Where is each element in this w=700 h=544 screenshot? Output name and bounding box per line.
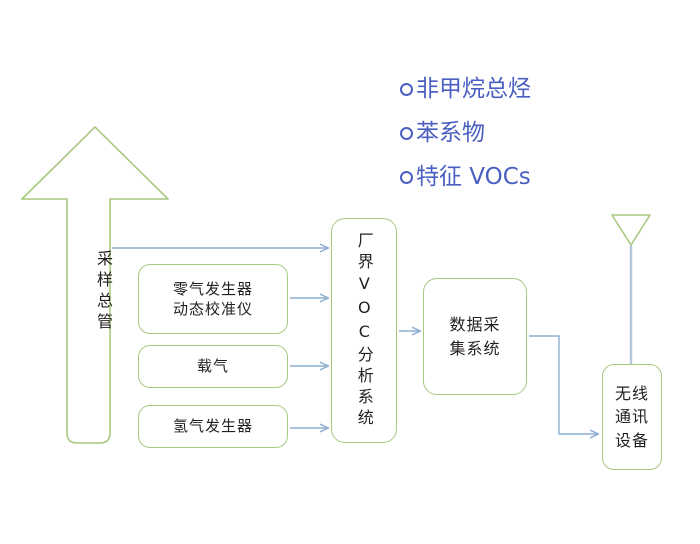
legend: 非甲烷总烃 苯系物 特征 VOCs — [400, 76, 690, 208]
node-label: 厂界VOC分析系统 — [355, 232, 373, 430]
node-label: 数据采 集系统 — [449, 313, 500, 361]
node-hydrogen-generator: 氢气发生器 — [138, 405, 288, 448]
arrow-dacq-to-wireless — [529, 336, 598, 434]
legend-item-vocs: 特征 VOCs — [400, 164, 690, 190]
node-label-line1: 数据采 — [449, 313, 500, 337]
node-label-line1: 无线 — [615, 382, 649, 405]
legend-item-label: 苯系物 — [416, 120, 485, 146]
node-wireless-device: 无线 通讯 设备 — [602, 364, 662, 470]
node-label: 无线 通讯 设备 — [615, 382, 649, 452]
node-label-line3: 设备 — [615, 429, 649, 452]
node-zero-gas-generator: 零气发生器 动态校准仪 — [138, 264, 288, 334]
antenna-icon — [612, 215, 650, 364]
manifold-label: 采样总管 — [67, 250, 112, 334]
node-carrier-gas: 载气 — [138, 345, 288, 388]
node-data-acquisition: 数据采 集系统 — [423, 278, 527, 395]
legend-item-nmhc: 非甲烷总烃 — [400, 76, 690, 102]
hollow-circle-icon — [400, 127, 413, 140]
node-label-line2: 通讯 — [615, 405, 649, 428]
node-label: 氢气发生器 — [173, 416, 253, 436]
hollow-circle-icon — [400, 83, 413, 96]
diagram-canvas: 采样总管 非甲烷总烃 苯系物 特征 VOCs 零气发生器 动态校准仪 载气 氢气… — [0, 0, 700, 544]
node-voc-analyzer: 厂界VOC分析系统 — [331, 218, 397, 443]
legend-item-label: 非甲烷总烃 — [416, 76, 531, 102]
node-label-line2: 集系统 — [449, 337, 500, 361]
legend-item-btex: 苯系物 — [400, 120, 690, 146]
node-label: 零气发生器 动态校准仪 — [173, 279, 253, 320]
legend-item-label: 特征 VOCs — [416, 164, 531, 190]
node-label: 载气 — [197, 356, 229, 376]
node-label-line1: 零气发生器 — [173, 279, 253, 299]
node-label-line2: 动态校准仪 — [173, 299, 253, 319]
hollow-circle-icon — [400, 171, 413, 184]
